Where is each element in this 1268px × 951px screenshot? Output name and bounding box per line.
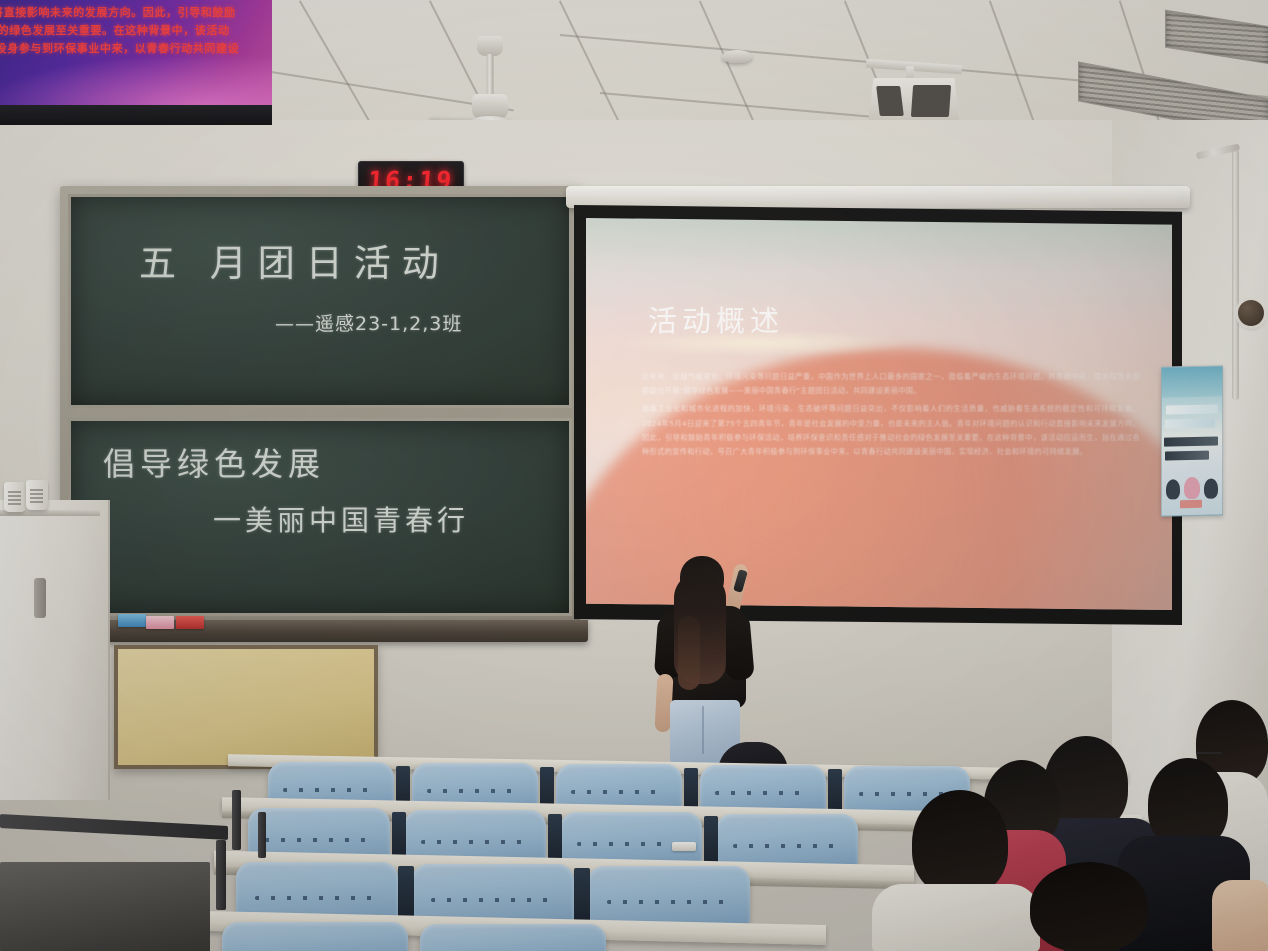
- slide-title: 活动概述: [648, 298, 784, 340]
- display-bezel: [0, 105, 272, 125]
- corridor-display: 将直接影响未来的发展方向。因此，引导和鼓励 会的绿色发展至关重要。在这种背景中，…: [0, 0, 272, 125]
- seat-gap: [828, 769, 842, 811]
- audience-head: [1030, 862, 1148, 951]
- desk-leg: [232, 790, 241, 850]
- poster-text-line: [1166, 404, 1218, 414]
- seat[interactable]: [412, 864, 574, 922]
- chalkboard-attribution: ——遥感23-1,2,3班: [275, 309, 462, 336]
- chalkboard-line-2: 一美丽中国青春行: [213, 499, 469, 539]
- desk-leg: [216, 840, 226, 910]
- seat[interactable]: [420, 924, 606, 951]
- display-text-line: 会的绿色发展至关重要。在这种背景中，该活动: [0, 22, 230, 38]
- chalk-box-pink: [146, 616, 174, 629]
- seat[interactable]: [560, 812, 702, 864]
- eyeglasses-icon: [1196, 752, 1222, 754]
- projection-slide: 活动概述 近年来，全球气候变化、环境污染等问题日益严重，中国作为世界上人口最多的…: [586, 218, 1172, 610]
- display-text-line: 极投身参与到环保事业中来，以青春行动共同建设: [0, 40, 239, 56]
- classroom-photo: 将直接影响未来的发展方向。因此，引导和鼓励 会的绿色发展至关重要。在这种背景中，…: [0, 0, 1268, 951]
- seat[interactable]: [700, 765, 826, 811]
- seat-gap: [398, 866, 414, 920]
- smoke-detector-icon: [722, 50, 752, 63]
- shelf-jar: [4, 482, 26, 512]
- audience-body: [872, 884, 1040, 951]
- wall-conduit: [1232, 150, 1239, 400]
- seat-gap: [704, 816, 718, 864]
- cabinet-handle[interactable]: [34, 578, 46, 618]
- floor-shadow: [0, 862, 210, 951]
- slide-body: 近年来，全球气候变化、环境污染等问题日益严重，中国作为世界上人口最多的国家之一，…: [642, 370, 1140, 463]
- seat-gap: [548, 814, 562, 862]
- chalk-box-blue: [118, 614, 146, 627]
- bulletin-board: [114, 645, 378, 769]
- poster-figure-icon: [1204, 478, 1218, 498]
- seat[interactable]: [222, 922, 408, 951]
- poster-figure-icon: [1166, 479, 1180, 499]
- audience-head: [912, 790, 1008, 896]
- poster-header: [1162, 366, 1222, 397]
- chalkboard-line-1: 倡导绿色发展: [103, 439, 325, 485]
- slide-paragraph: 近年来，全球气候变化、环境污染等问题日益严重，中国作为世界上人口最多的国家之一，…: [642, 370, 1140, 398]
- poster-text-line: [1164, 436, 1218, 446]
- seat[interactable]: [588, 866, 750, 924]
- wall-cabinet: [0, 500, 110, 800]
- chalkboard-top-panel: 五 月团日活动 ——遥感23-1,2,3班: [68, 194, 572, 408]
- seat-gap: [684, 768, 698, 810]
- seat-gap: [392, 812, 406, 860]
- chalkboard: 五 月团日活动 ——遥感23-1,2,3班 倡导绿色发展 一美丽中国青春行: [60, 186, 580, 624]
- chalk-box-red: [176, 616, 204, 629]
- presenter-hair-strand: [678, 616, 700, 690]
- slide-paragraph: 随着工业化和城市化进程的加快，环境污染、生态破坏等问题日益突出，不仅影响着人们的…: [642, 402, 1140, 459]
- poster-text-line: [1165, 451, 1209, 461]
- seat[interactable]: [716, 814, 858, 866]
- wall-speaker-icon: [1238, 300, 1264, 326]
- presenter-right-sleeve: [721, 613, 755, 681]
- display-text-line: 将直接影响未来的发展方向。因此，引导和鼓励: [0, 4, 236, 20]
- student-presenter: [648, 556, 758, 771]
- exam-integrity-poster: [1161, 365, 1223, 516]
- audience-body: [1212, 880, 1268, 951]
- poster-badge: [1180, 500, 1202, 508]
- seat-gap: [574, 868, 590, 922]
- desk-leg: [258, 812, 266, 858]
- desk-eraser[interactable]: [672, 842, 696, 851]
- screen-roller-housing: [566, 186, 1190, 208]
- shelf-jar: [26, 480, 48, 510]
- poster-figure-icon: [1184, 477, 1200, 499]
- chalkboard-heading: 五 月团日活动: [139, 233, 450, 287]
- poster-text-line: [1165, 419, 1215, 429]
- ceiling-fan: [430, 36, 550, 122]
- display-screen: 将直接影响未来的发展方向。因此，引导和鼓励 会的绿色发展至关重要。在这种背景中，…: [0, 0, 272, 107]
- chalkboard-bottom-panel: 倡导绿色发展 一美丽中国青春行: [68, 418, 572, 616]
